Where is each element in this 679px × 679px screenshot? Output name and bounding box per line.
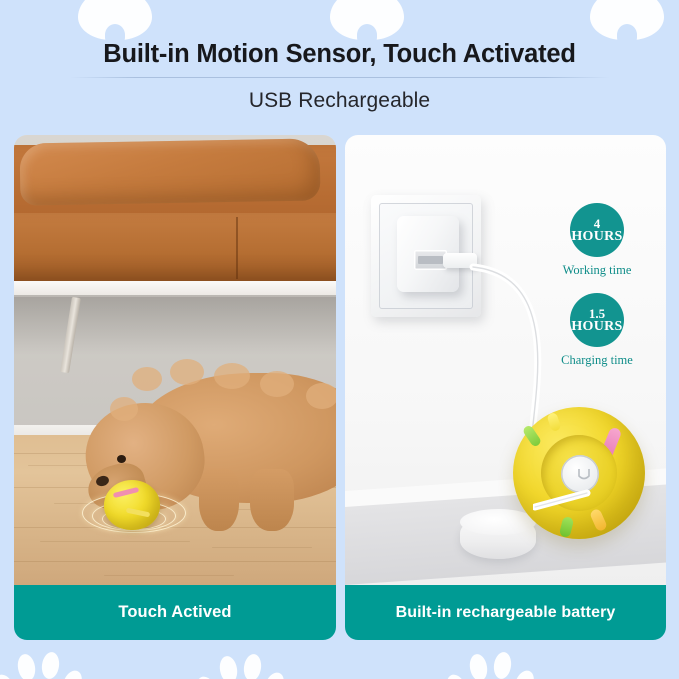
charging-pin-icon <box>575 467 593 483</box>
scene-wall-outlet: 4 HOURS Working time 1.5 HOURS Charging … <box>345 135 666 585</box>
paw-toe <box>40 651 61 679</box>
page-title: Built-in Motion Sensor, Touch Activated <box>0 0 679 68</box>
badge-charging-time: 1.5 HOURS Charging time <box>535 293 659 368</box>
couch-seam <box>236 217 238 279</box>
couch-shadow <box>14 295 336 355</box>
panel-touch-activated[interactable]: Touch Actived <box>14 135 336 640</box>
badge-working-time: 4 HOURS Working time <box>535 203 659 278</box>
photo-usb-charging: 4 HOURS Working time 1.5 HOURS Charging … <box>345 135 666 585</box>
caption-right: Built-in rechargeable battery <box>345 585 666 640</box>
product-feature-graphic: Built-in Motion Sensor, Touch Activated … <box>0 0 679 679</box>
paw-print-icon <box>446 648 542 679</box>
paw-toe <box>443 672 469 679</box>
paw-toe <box>242 653 263 679</box>
paw-toe <box>16 653 37 679</box>
badge-number: 1.5 <box>589 307 605 320</box>
badge-unit: HOURS <box>571 230 622 244</box>
page-subtitle: USB Rechargeable <box>0 89 679 113</box>
scene-living-room <box>14 135 336 585</box>
dog-eye <box>117 455 126 463</box>
cable-to-ball <box>533 487 595 513</box>
badge-unit: HOURS <box>571 320 622 334</box>
charging-base-top <box>460 509 536 535</box>
paw-toe <box>512 668 538 679</box>
dog-leg <box>250 469 294 531</box>
paw-toe <box>468 653 489 679</box>
paw-toe <box>193 674 219 679</box>
couch-seat <box>14 213 336 285</box>
header: Built-in Motion Sensor, Touch Activated … <box>0 0 679 113</box>
dog-leg <box>199 469 239 531</box>
couch-cushion <box>19 138 320 205</box>
paw-toe <box>262 670 288 679</box>
paw-print-icon <box>196 650 292 679</box>
badge-number: 4 <box>594 217 601 230</box>
caption-left: Touch Actived <box>14 585 336 640</box>
paw-toe <box>60 668 86 679</box>
panel-rechargeable-battery[interactable]: 4 HOURS Working time 1.5 HOURS Charging … <box>345 135 666 640</box>
usb-port-slot <box>418 256 443 264</box>
title-divider <box>70 77 610 78</box>
photo-dog-touch <box>14 135 336 585</box>
paw-toe <box>492 651 513 679</box>
paw-toe <box>0 672 18 679</box>
paw-toe <box>218 655 239 679</box>
badge-circle: 4 HOURS <box>570 203 624 257</box>
badge-label: Charging time <box>535 353 659 368</box>
badge-label: Working time <box>535 263 659 278</box>
badge-circle: 1.5 HOURS <box>570 293 624 347</box>
paw-print-icon <box>0 648 90 679</box>
